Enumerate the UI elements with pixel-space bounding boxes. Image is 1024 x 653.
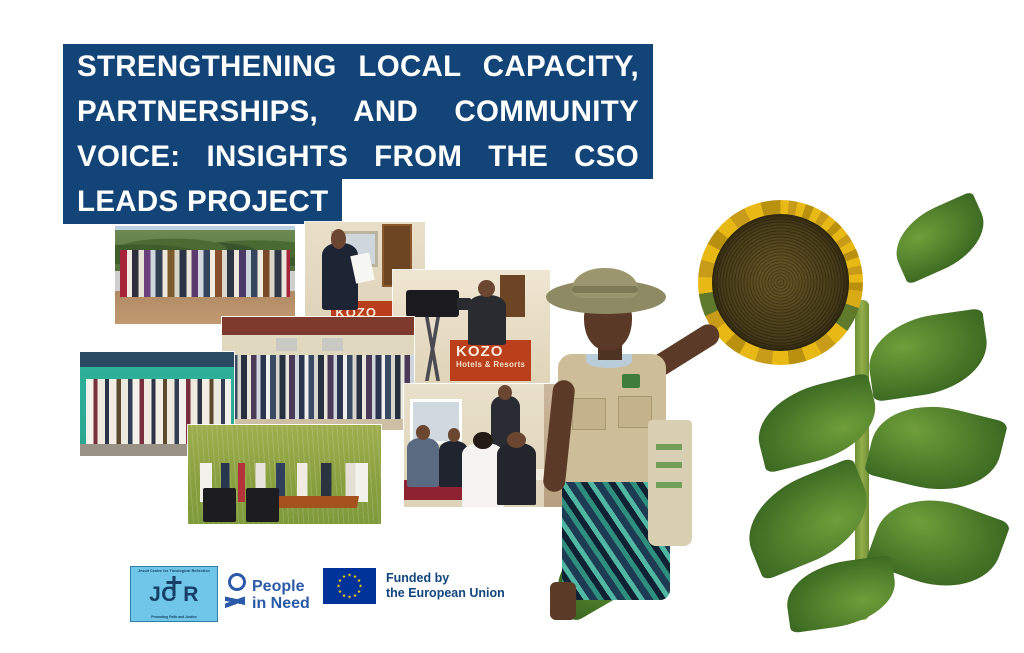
poster-canvas: STRENGTHENING LOCAL CAPACITY, PARTNERSHI… — [0, 0, 1024, 653]
participant — [497, 443, 536, 505]
shirt-badge — [622, 374, 640, 388]
photo-camera-speaker-kozo — [393, 270, 550, 383]
photo-group-outdoor-trees — [115, 226, 295, 324]
eu-funding-statement: Funded by the European Union — [386, 571, 505, 601]
eu-star-icon — [348, 573, 352, 577]
leg — [550, 582, 576, 620]
eu-star-icon — [353, 574, 357, 578]
speaker-head — [331, 229, 346, 249]
participant-head — [473, 432, 493, 450]
eu-star-icon — [338, 579, 342, 583]
hat-band — [572, 286, 638, 293]
farmer-with-sunflower — [536, 270, 706, 620]
speaker-figure — [322, 243, 358, 309]
ac-unit — [322, 338, 343, 350]
sunflower-seed-disc — [712, 214, 849, 351]
participant — [407, 438, 439, 487]
eu-star-icon — [357, 590, 361, 594]
shirt-pocket — [572, 398, 606, 430]
people-in-need-wordmark: People in Need — [252, 578, 310, 612]
hat-crown — [572, 268, 638, 298]
video-camera — [406, 290, 459, 317]
tripod — [412, 317, 453, 380]
participant-head — [416, 425, 430, 440]
european-union-logo: Funded by the European Union — [323, 568, 505, 604]
photo-field-meeting — [188, 425, 381, 524]
eu-star-icon — [357, 579, 361, 583]
wooden-table — [276, 496, 359, 508]
sunflower-leaf — [863, 308, 993, 402]
eu-star-icon — [342, 594, 346, 598]
eu-star-icon — [337, 584, 341, 588]
jctr-tagline-top: Jesuit Centre for Theological Reflection — [138, 569, 210, 573]
crowd-silhouettes — [120, 250, 289, 297]
folding-chair — [203, 488, 236, 522]
jctr-logo: Jesuit Centre for Theological Reflection… — [130, 566, 218, 622]
pin-line-2: in Need — [252, 595, 310, 612]
shirt-pocket — [618, 396, 652, 428]
eu-star-icon — [353, 594, 357, 598]
jctr-wordmark: JC R — [149, 584, 199, 605]
pin-line-1: People — [252, 578, 310, 595]
eu-line-2: the European Union — [386, 586, 505, 601]
sunflower-head — [698, 200, 863, 365]
participant-head — [507, 432, 526, 448]
eu-flag-icon — [323, 568, 376, 604]
roof-line — [80, 352, 234, 367]
ac-unit — [276, 338, 297, 350]
speaker-head — [478, 280, 495, 297]
figure-body — [225, 586, 245, 617]
cross-icon — [172, 576, 175, 596]
eu-star-icon — [348, 595, 352, 599]
kozo-hotels-podium — [450, 340, 532, 381]
eu-star-icon — [338, 590, 342, 594]
people-in-need-logo: People in Need — [225, 570, 330, 620]
speaker-figure — [468, 295, 506, 345]
jctr-tagline-bottom: Promoting Faith and Justice — [151, 615, 197, 619]
photo-group-cream-building — [222, 317, 414, 430]
eu-star-icon — [359, 584, 363, 588]
eu-star-icon — [342, 574, 346, 578]
person-figure-icon — [225, 573, 245, 617]
roof-line — [222, 317, 414, 335]
folding-chair — [246, 488, 279, 522]
eu-line-1: Funded by — [386, 571, 505, 586]
crowd-silhouettes — [222, 355, 414, 418]
shoulder-bag — [648, 420, 692, 546]
facilitator-head — [498, 385, 512, 400]
sunflower-leaf — [884, 191, 996, 285]
sunflower-leaf — [864, 392, 1009, 504]
participant-head — [448, 428, 461, 442]
